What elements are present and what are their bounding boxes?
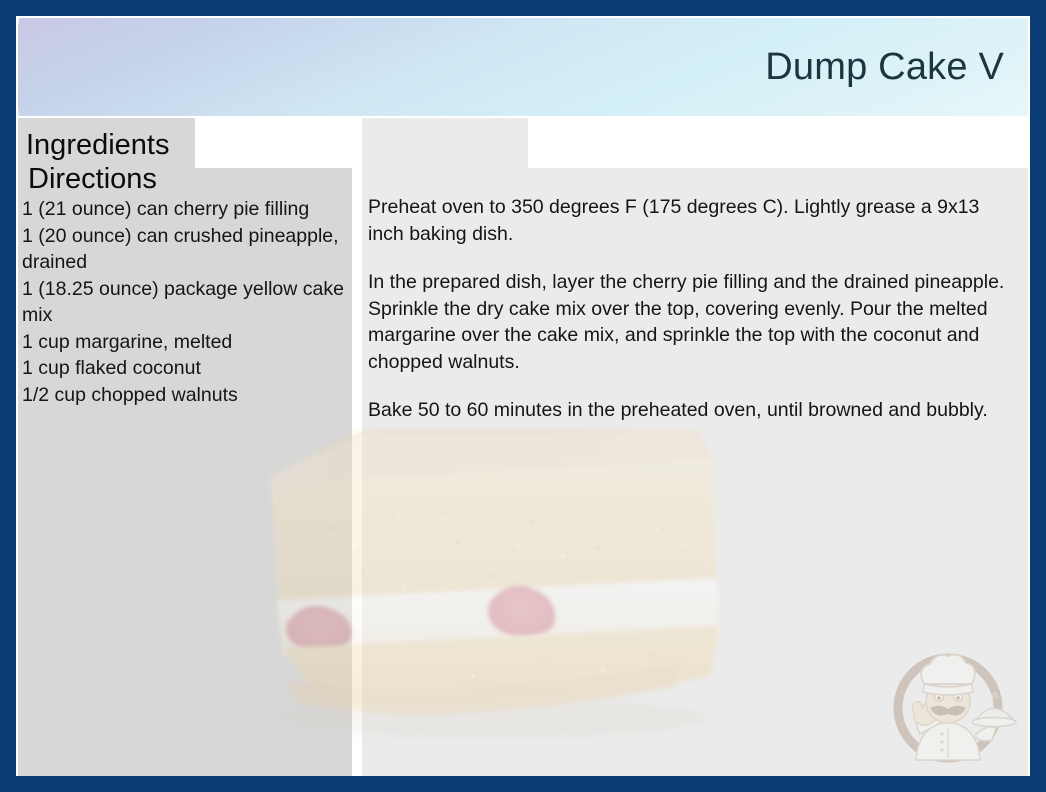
ingredient-item: 1 cup margarine, melted [22, 329, 348, 356]
directions-heading: Directions [28, 163, 1038, 196]
card-header-band: Dump Cake V [18, 18, 1028, 116]
ingredient-item: 1 (21 ounce) can cherry pie filling [22, 196, 348, 223]
ingredients-heading: Ingredients [26, 129, 1036, 162]
card-body: Ingredients Directions 1 (21 ounce) can … [18, 118, 1028, 776]
ingredient-item: 1 (20 ounce) can crushed pineapple, drai… [22, 223, 348, 276]
ingredient-item: 1 cup flaked coconut [22, 355, 348, 382]
ingredient-item: 1/2 cup chopped walnuts [22, 382, 348, 409]
direction-paragraph: Bake 50 to 60 minutes in the preheated o… [368, 397, 1018, 424]
page-title: Dump Cake V [765, 46, 1004, 89]
directions-text: Preheat oven to 350 degrees F (175 degre… [368, 194, 1018, 424]
ingredients-list: 1 (21 ounce) can cherry pie filling 1 (2… [22, 196, 348, 408]
ingredient-item: 1 (18.25 ounce) package yellow cake mix [22, 276, 348, 329]
recipe-card: Dump Cake V [0, 0, 1046, 792]
direction-paragraph: Preheat oven to 350 degrees F (175 degre… [368, 194, 1018, 247]
direction-paragraph: In the prepared dish, layer the cherry p… [368, 269, 1018, 375]
